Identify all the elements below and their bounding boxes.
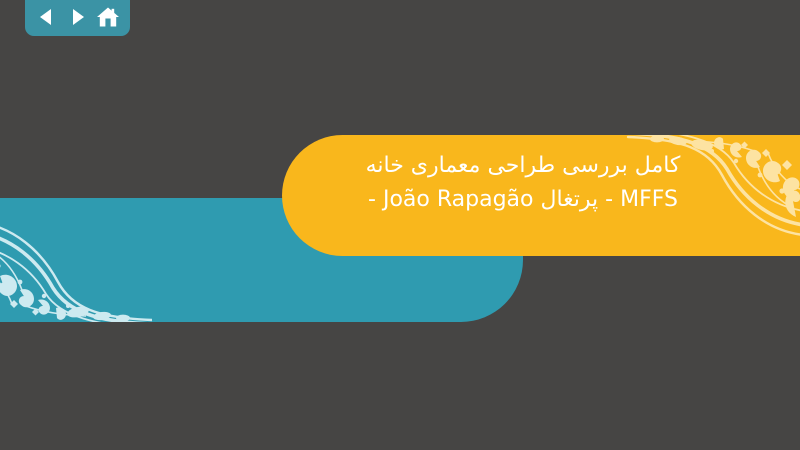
slide-navigation-bar — [25, 0, 130, 36]
title-line-1: کامل بررسی طراحی معماری خانه — [310, 149, 736, 183]
title-line-2: MFFS - پرتغال João Rapagão - — [310, 183, 736, 217]
title-banner: کامل بررسی طراحی معماری خانه MFFS - پرتغ… — [282, 135, 800, 256]
back-arrow-icon[interactable] — [34, 4, 60, 30]
arabesque-ornament-bottom-left — [0, 204, 152, 322]
presentation-slide: کامل بررسی طراحی معماری خانه MFFS - پرتغ… — [0, 0, 800, 450]
forward-arrow-icon[interactable] — [65, 4, 91, 30]
home-icon[interactable] — [95, 4, 121, 30]
slide-title: کامل بررسی طراحی معماری خانه MFFS - پرتغ… — [282, 149, 800, 217]
